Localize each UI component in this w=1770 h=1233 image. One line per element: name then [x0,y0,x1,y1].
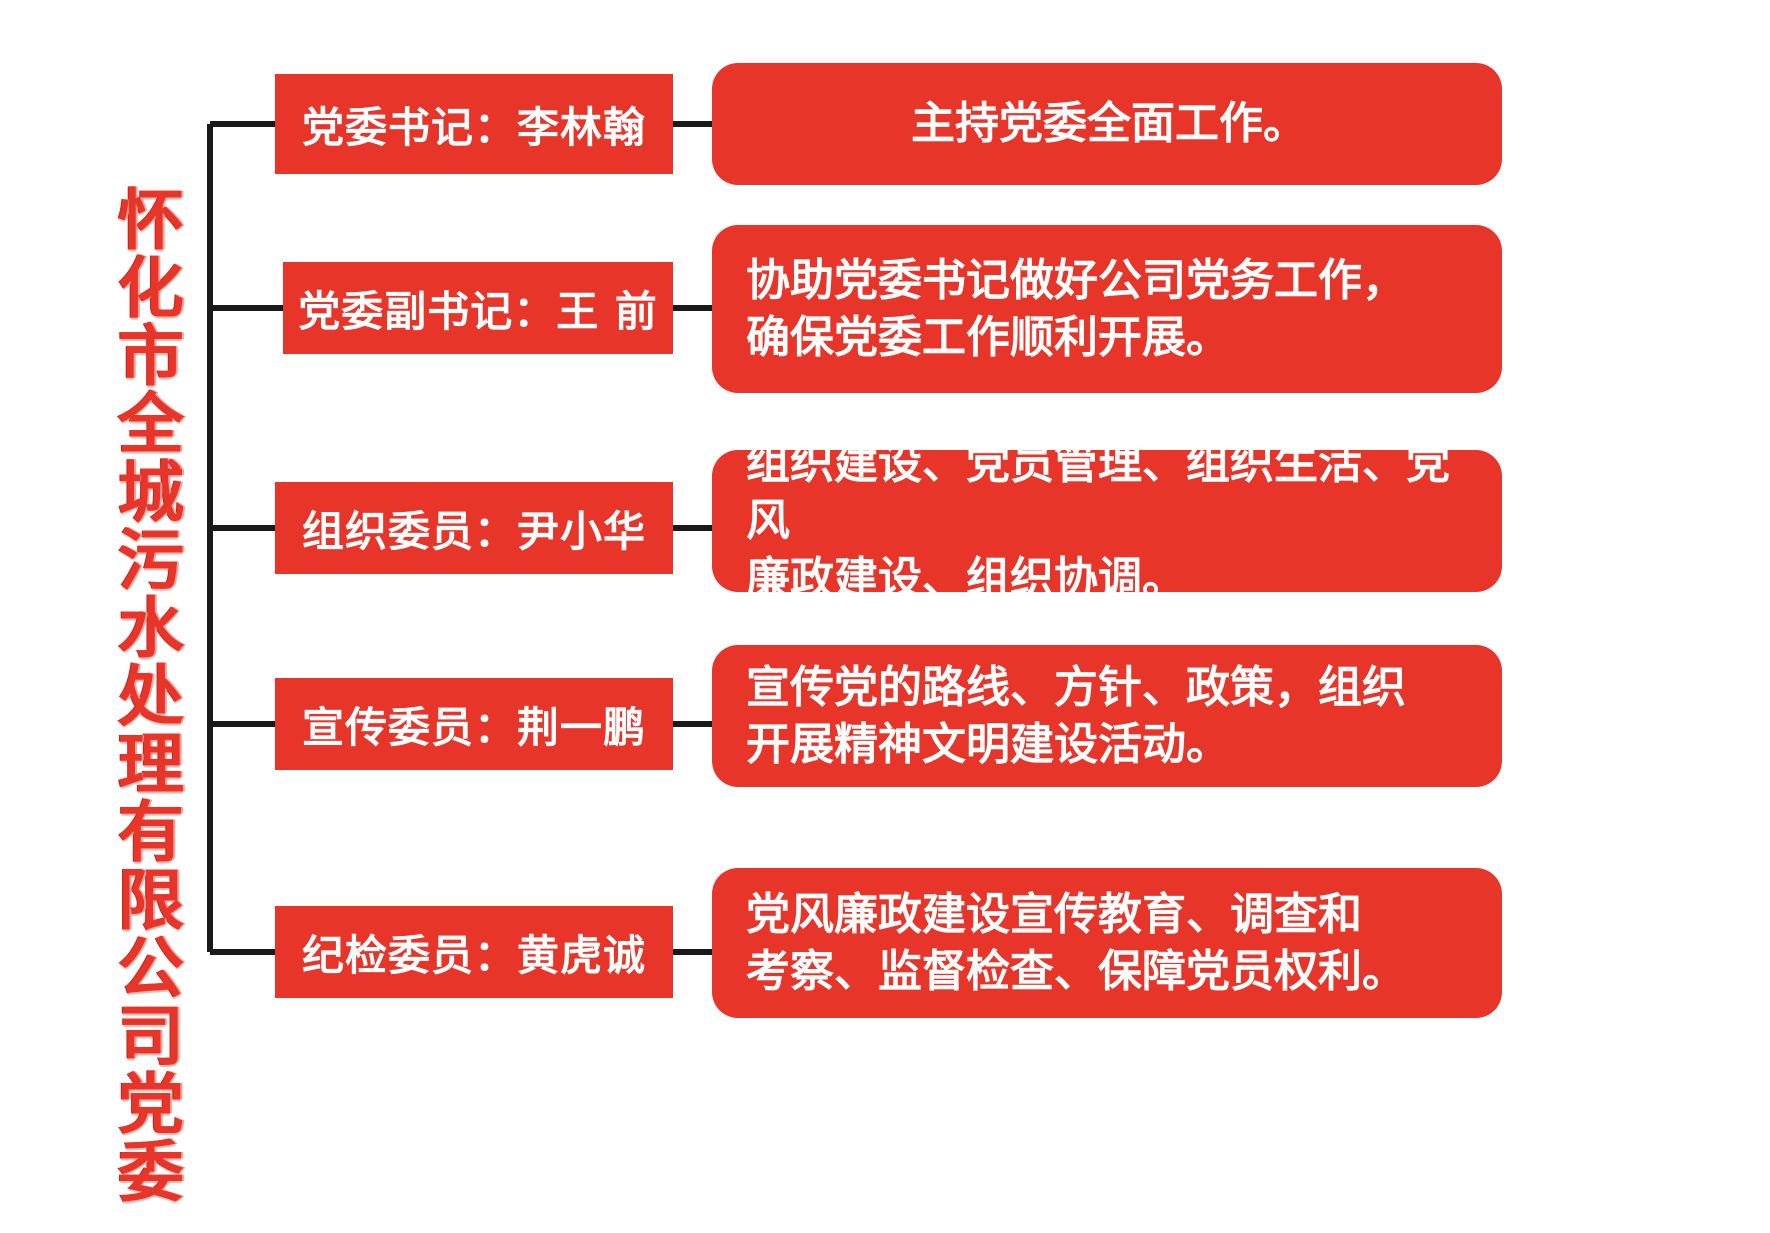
duty-box-discipline-member[interactable]: 党风廉政建设宣传教育、调查和 考察、监督检查、保障党员权利。 [712,868,1502,1018]
role-box-propaganda-member[interactable]: 宣传委员：荆一鹏 [275,678,673,770]
duty-box-deputy-secretary[interactable]: 协助党委书记做好公司党务工作， 确保党委工作顺利开展。 [712,225,1502,393]
org-chart: 怀化市全城污水处理有限公司党委 党委书记：李林翰 主持党委全面工作。 党委副书记… [0,0,1770,1233]
role-box-organization-member[interactable]: 组织委员：尹小华 [275,482,673,574]
company-title: 怀化市全城污水处理有限公司党委 [60,185,180,1065]
role-box-discipline-member[interactable]: 纪检委员：黄虎诚 [275,906,673,998]
role-box-party-secretary[interactable]: 党委书记：李林翰 [275,74,673,174]
duty-box-party-secretary[interactable]: 主持党委全面工作。 [712,63,1502,185]
role-box-deputy-secretary[interactable]: 党委副书记：王 前 [283,262,673,354]
duty-box-propaganda-member[interactable]: 宣传党的路线、方针、政策，组织 开展精神文明建设活动。 [712,645,1502,787]
duty-box-organization-member[interactable]: 组织建设、党员管理、组织生活、党风 廉政建设、组织协调。 [712,450,1502,592]
